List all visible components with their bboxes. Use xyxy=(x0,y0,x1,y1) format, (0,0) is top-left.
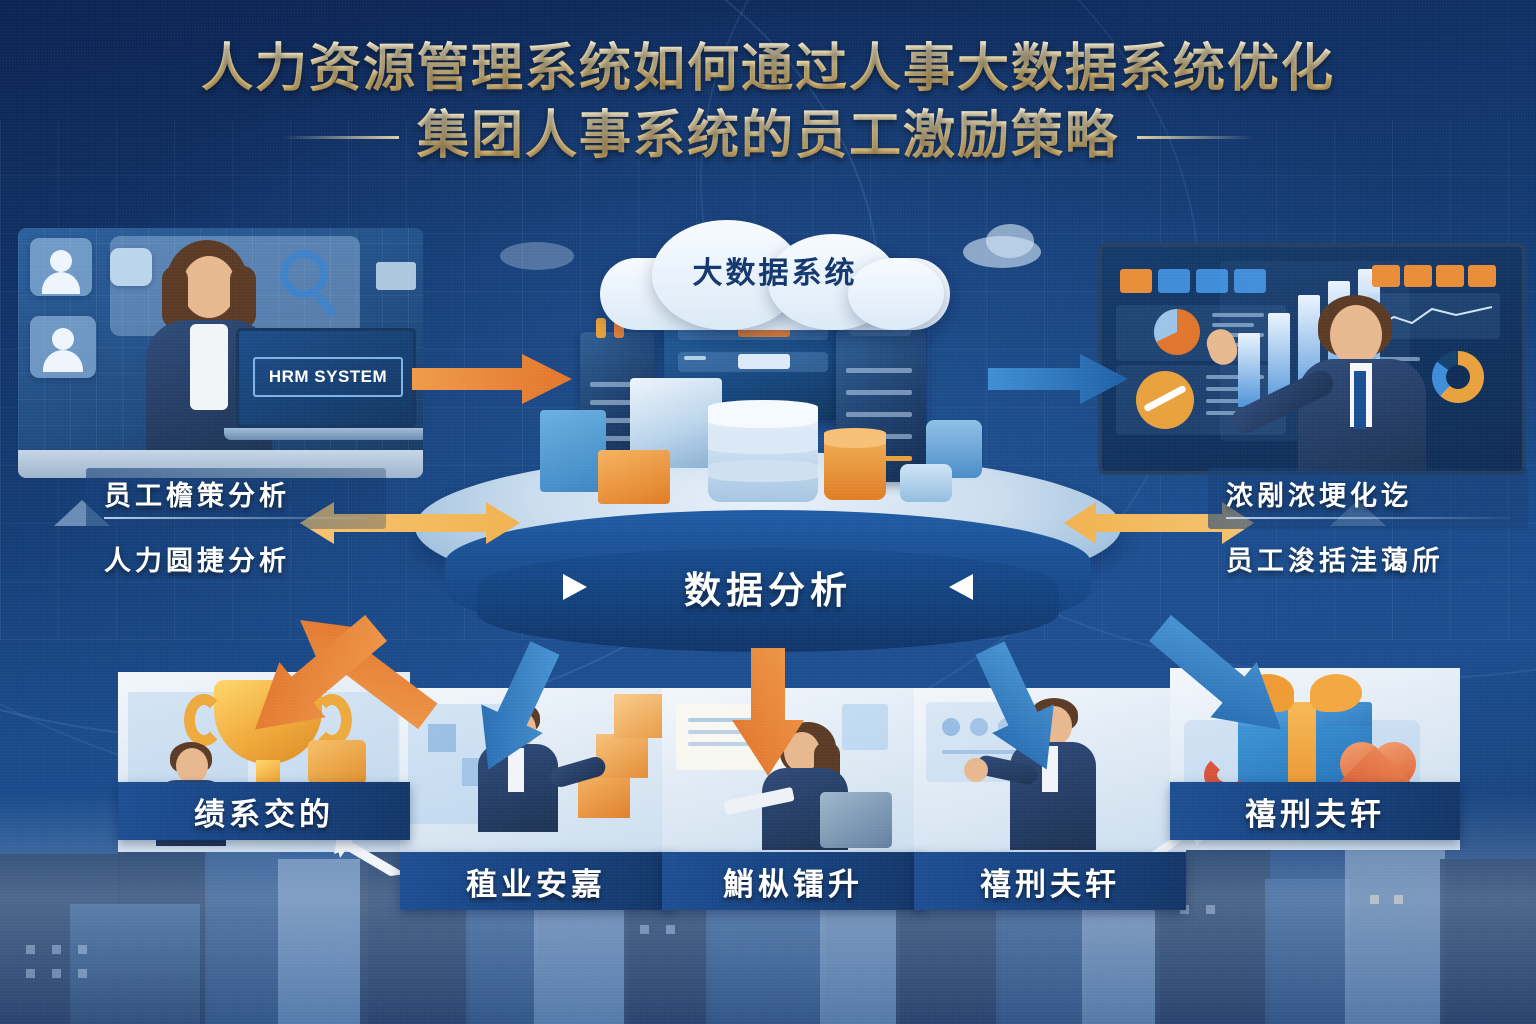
bottom-label-3[interactable]: 鮹枞镭升 xyxy=(662,852,924,910)
callout-left-1: 员工檐策分析 xyxy=(86,468,386,529)
bottom-label-1[interactable]: 绩系交的 xyxy=(118,782,410,840)
trophy-handle-left xyxy=(184,694,224,746)
right-scene-dashboard xyxy=(1098,243,1526,475)
arrow-hrm-to-center xyxy=(412,352,572,406)
left-scene-hrm: HRM SYSTEM xyxy=(18,228,423,478)
bottom-label-5[interactable]: 禧刑夫轩 xyxy=(1170,782,1460,840)
gift-bow-right xyxy=(1310,674,1362,712)
callout-left-1-text: 员工檐策分析 xyxy=(104,474,368,513)
cloud-decor-left xyxy=(500,242,574,270)
arrow-center-to-dashboard xyxy=(988,352,1128,406)
laptop: HRM SYSTEM xyxy=(236,328,416,448)
callout-right-1-text: 浓剐浓埂化讫 xyxy=(1226,474,1510,513)
cloud-decor-right2 xyxy=(986,224,1034,258)
bottom-panel-2[interactable] xyxy=(400,688,672,868)
hr-person-head xyxy=(182,256,236,318)
analyst-head xyxy=(1330,305,1382,365)
callout-right-group: 浓剐浓埂化讫 员工浚括洼蔼斦 xyxy=(1208,468,1528,582)
callout-left-2: 人力圆捷分析 xyxy=(86,535,386,582)
laptop-icon xyxy=(820,792,892,848)
kpi-tile-orange xyxy=(1120,269,1152,293)
callout-left-2-text: 人力圆捷分析 xyxy=(104,539,368,578)
recognition-icon xyxy=(942,718,960,736)
title-block: 人力资源管理系统如何通过人事大数据系统优化 集团人事系统的员工激励策略 xyxy=(0,38,1536,169)
title-rule-right xyxy=(1137,136,1255,139)
title-line-2: 集团人事系统的员工激励策略 xyxy=(417,105,1119,168)
database-small-2 xyxy=(900,464,952,502)
search-icon xyxy=(280,250,328,298)
bottom-label-2[interactable]: 稙业安嘉 xyxy=(400,852,672,910)
id-card-icon xyxy=(110,248,152,286)
callout-right-2-text: 员工浚括洼蔼斦 xyxy=(1226,539,1510,578)
title-line-1: 人力资源管理系统如何通过人事大数据系统优化 xyxy=(0,38,1536,101)
callout-left-group: 员工檐策分析 人力圆捷分析 xyxy=(86,468,386,582)
trophy-handle-right xyxy=(312,694,352,746)
cloud-bigdata: 大数据系统 xyxy=(600,214,950,334)
laptop-screen: HRM SYSTEM xyxy=(236,328,416,428)
laptop-base xyxy=(224,428,423,440)
infographic-canvas: 人力资源管理系统如何通过人事大数据系统优化 集团人事系统的员工激励策略 xyxy=(0,0,1536,1024)
bottom-label-4[interactable]: 禧刑夫轩 xyxy=(914,852,1186,910)
line-chart-path xyxy=(1374,303,1494,333)
gift-bow-left xyxy=(1242,674,1294,712)
platform-label: 数据分析 xyxy=(415,560,1121,614)
pie-chart xyxy=(1154,309,1200,355)
storage-orange xyxy=(598,450,670,504)
speech-bubble-icon xyxy=(308,740,366,784)
laptop-hrm-label: HRM SYSTEM xyxy=(253,357,403,397)
career-growth-icon xyxy=(578,774,630,818)
bottom-panel-3[interactable] xyxy=(662,688,924,868)
title-rule-left xyxy=(281,136,399,139)
callout-right-2: 员工浚括洼蔼斦 xyxy=(1208,535,1528,582)
callout-right-1: 浓剐浓埂化讫 xyxy=(1208,468,1528,529)
cloud-label: 大数据系统 xyxy=(600,248,950,292)
grid-icon xyxy=(376,262,416,290)
